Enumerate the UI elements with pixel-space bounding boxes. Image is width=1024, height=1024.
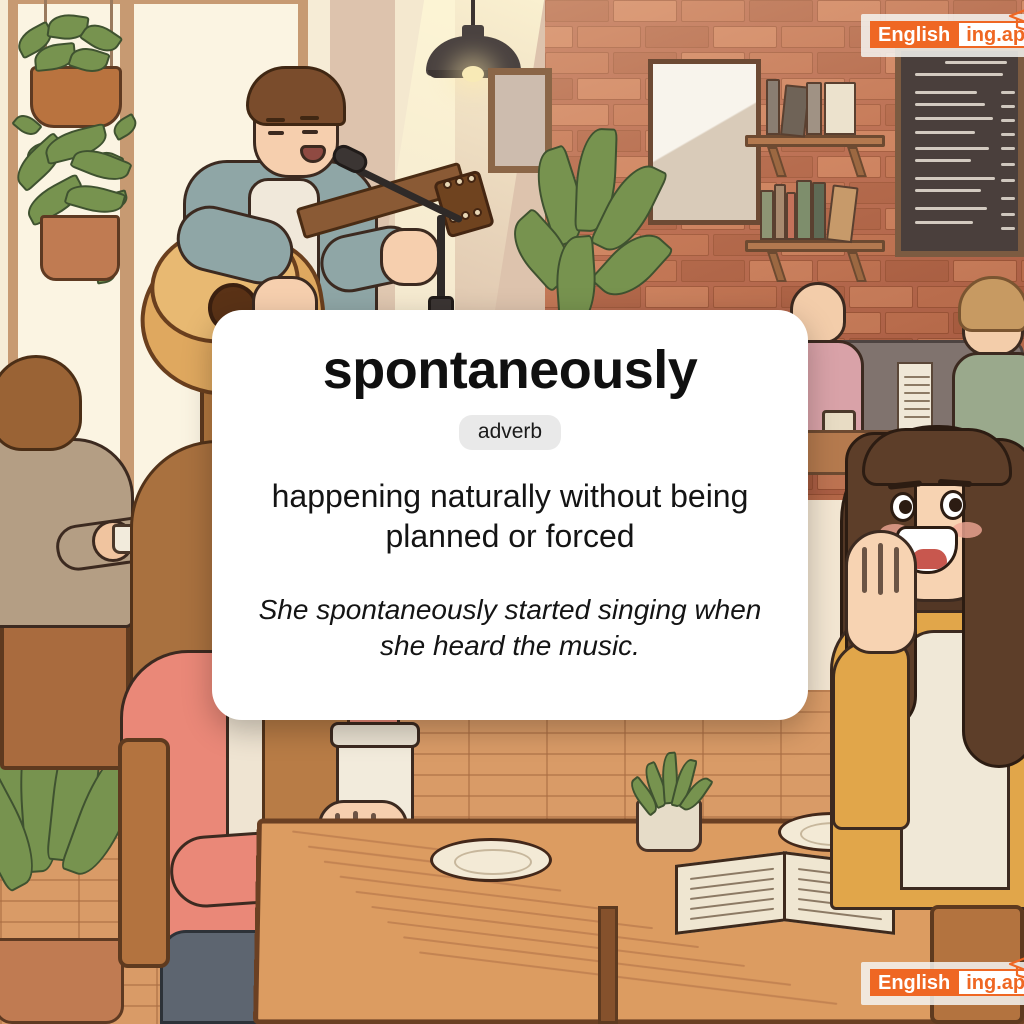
musician-eye-right	[302, 130, 318, 134]
table-leg-left	[598, 906, 618, 1024]
bookshelf-lower	[745, 240, 885, 252]
book-page-left	[675, 851, 787, 935]
orange-cardigan-woman-fringe	[862, 428, 1012, 486]
logo-text-english: English	[870, 969, 957, 996]
logo-text-english: English	[870, 21, 957, 48]
graduation-cap-icon	[1007, 955, 1024, 981]
musician-fretting-hand	[380, 228, 440, 286]
definition-text: happening naturally without being planne…	[250, 476, 770, 557]
pink-woman-chair-back	[118, 738, 170, 968]
pendant-lamp-cord	[471, 0, 475, 26]
vocabulary-definition-card: spontaneously adverb happening naturally…	[212, 310, 808, 720]
background-man-hair	[958, 276, 1024, 332]
orange-cardigan-woman-pupil-right	[949, 498, 962, 512]
logo-badge-top-right[interactable]: English ing.app	[861, 14, 1024, 57]
graduation-cap-icon	[1007, 7, 1024, 33]
seated-man-head	[0, 355, 82, 451]
illustration-canvas: MENU	[0, 0, 1024, 1024]
part-of-speech-badge: adverb	[459, 415, 561, 450]
plant-pot-upper-left	[40, 215, 120, 281]
pendant-lamp-bulb	[462, 66, 484, 82]
orange-cardigan-woman-raised-arm	[832, 640, 910, 830]
musician-eyebrow-left	[266, 118, 285, 122]
chalkboard-menu	[895, 45, 1024, 257]
logo-badge-bottom-right[interactable]: English ing.app	[861, 962, 1024, 1005]
plate-left	[430, 838, 552, 882]
word-title: spontaneously	[323, 342, 698, 399]
orange-cardigan-woman-pupil-left	[899, 500, 912, 514]
takeaway-cup-lid	[330, 722, 420, 748]
orange-cardigan-woman-hair-side	[962, 438, 1024, 768]
hanging-plant-pot	[30, 66, 122, 128]
plant-pot-bottom-left	[0, 938, 124, 1024]
background-paper-menu	[897, 362, 933, 434]
example-sentence: She spontaneously started singing when s…	[250, 592, 770, 664]
musician-hair	[246, 66, 346, 126]
bookshelf-upper	[745, 135, 885, 147]
musician-eye-left	[268, 131, 284, 135]
orange-cardigan-woman-hand-at-cheek	[845, 530, 917, 654]
musician-eyebrow-right	[300, 116, 319, 120]
